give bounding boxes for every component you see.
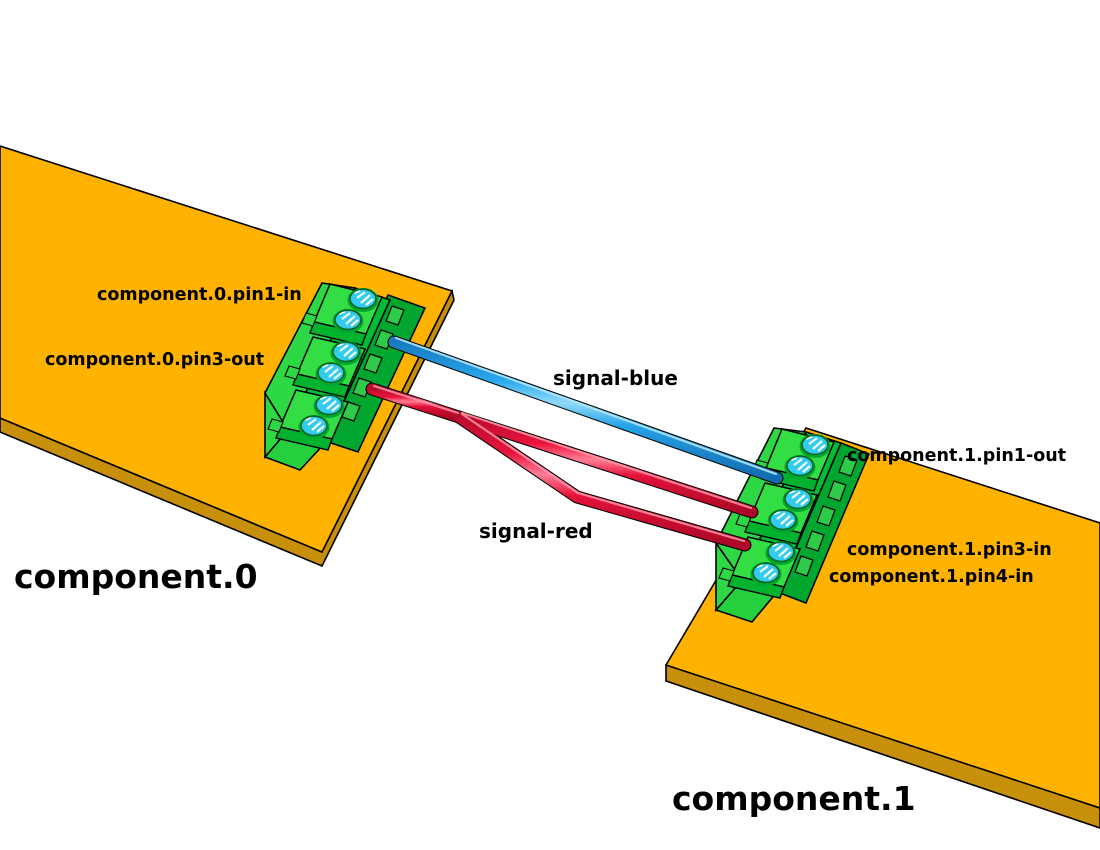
label-component-1-pin1-out: component.1.pin1-out — [847, 446, 1066, 466]
title-component-0: component.0 — [14, 557, 258, 596]
label-component-0-pin3-out: component.0.pin3-out — [45, 350, 264, 370]
label-component-1-pin4-in: component.1.pin4-in — [829, 567, 1034, 587]
label-component-0-pin1-in: component.0.pin1-in — [97, 285, 302, 305]
component-1-group[interactable]: component.1.pin1-out component.1.pin3-in… — [666, 428, 1100, 828]
label-component-1-pin3-in: component.1.pin3-in — [847, 540, 1052, 560]
label-signal-blue: signal-blue — [553, 366, 678, 390]
diagram-canvas: component.0.pin1-in component.0.pin3-out… — [0, 0, 1100, 850]
title-component-1: component.1 — [672, 779, 916, 818]
component-0-group[interactable]: component.0.pin1-in component.0.pin3-out… — [0, 146, 454, 596]
wiring-diagram-svg: component.0.pin1-in component.0.pin3-out… — [0, 0, 1100, 850]
label-signal-red: signal-red — [479, 519, 593, 543]
signal-red-branch-1 — [459, 417, 752, 512]
